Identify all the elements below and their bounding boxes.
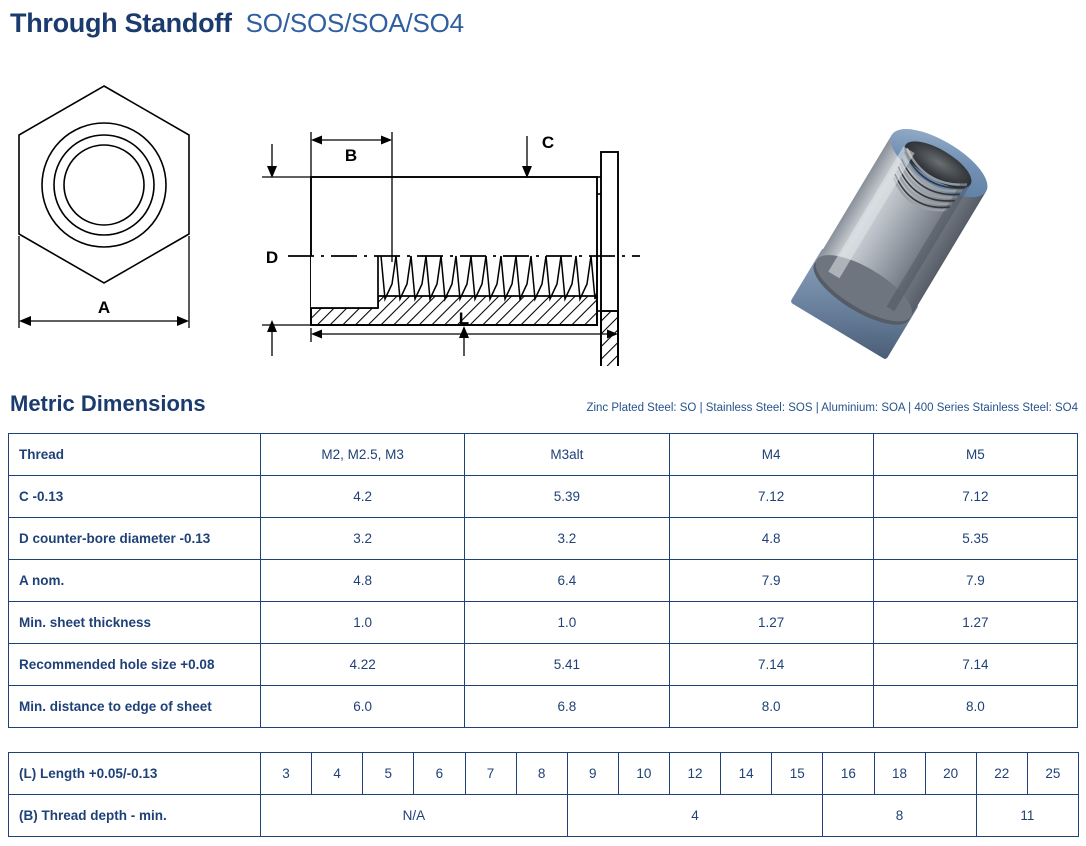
- length-cell: 22: [976, 753, 1027, 795]
- row-label: D counter-bore diameter -0.13: [9, 518, 261, 560]
- length-cell: 3: [261, 753, 312, 795]
- cell-value: 8.0: [669, 686, 873, 728]
- dimension-c: [522, 136, 532, 178]
- row-label: Min. distance to edge of sheet: [9, 686, 261, 728]
- drawings-panel: A: [0, 56, 1086, 366]
- cell-value: 7.9: [669, 560, 873, 602]
- length-cell: 8: [516, 753, 567, 795]
- table-row: Recommended hole size +0.08 4.22 5.41 7.…: [9, 644, 1078, 686]
- length-cell: 9: [567, 753, 618, 795]
- length-thread-depth-table: (L) Length +0.05/-0.13 34567891012141516…: [8, 752, 1079, 837]
- cell-value: 4.8: [261, 560, 465, 602]
- length-cell: 15: [772, 753, 823, 795]
- length-cell: 16: [823, 753, 874, 795]
- length-cell: 20: [925, 753, 976, 795]
- length-cell: 7: [465, 753, 516, 795]
- dimension-label-d: D: [266, 248, 278, 267]
- row-label: C -0.13: [9, 476, 261, 518]
- section-heading: Metric Dimensions: [10, 391, 206, 417]
- cell-value: 3.2: [261, 518, 465, 560]
- dimension-label-l: L: [459, 309, 469, 328]
- cell-value: 7.12: [669, 476, 873, 518]
- cell-value: 4.22: [261, 644, 465, 686]
- thread-depth-cell: 4: [567, 795, 823, 837]
- cell-value: 5.35: [873, 518, 1077, 560]
- cell-value: 6.8: [465, 686, 669, 728]
- cell-value: 7.9: [873, 560, 1077, 602]
- cell-value: 4.2: [261, 476, 465, 518]
- cell-value: 7.14: [873, 644, 1077, 686]
- cell-value: 7.14: [669, 644, 873, 686]
- table-header-row: Thread M2, M2.5, M3 M3alt M4 M5: [9, 434, 1078, 476]
- page-title: Through Standoff: [10, 8, 232, 39]
- row-label-length: (L) Length +0.05/-0.13: [9, 753, 261, 795]
- length-cell: 4: [312, 753, 363, 795]
- row-label: Recommended hole size +0.08: [9, 644, 261, 686]
- cell-value: 7.12: [873, 476, 1077, 518]
- metric-dimensions-table: Thread M2, M2.5, M3 M3alt M4 M5 C -0.13 …: [8, 433, 1078, 728]
- standoff-photo: [790, 115, 998, 360]
- row-label: Min. sheet thickness: [9, 602, 261, 644]
- column-header-thread: Thread: [9, 434, 261, 476]
- column-header-m2-m25-m3: M2, M2.5, M3: [261, 434, 465, 476]
- table-row: A nom. 4.8 6.4 7.9 7.9: [9, 560, 1078, 602]
- length-cell: 10: [618, 753, 669, 795]
- cell-value: 1.27: [669, 602, 873, 644]
- table-row: Min. sheet thickness 1.0 1.0 1.27 1.27: [9, 602, 1078, 644]
- cell-value: 6.0: [261, 686, 465, 728]
- technical-drawings-svg: A: [0, 56, 1086, 366]
- length-row: (L) Length +0.05/-0.13 34567891012141516…: [9, 753, 1079, 795]
- product-codes: SO/SOS/SOA/SO4: [246, 8, 464, 39]
- cell-value: 5.39: [465, 476, 669, 518]
- length-cell: 5: [363, 753, 414, 795]
- cell-value: 8.0: [873, 686, 1077, 728]
- thread-depth-cell: N/A: [261, 795, 568, 837]
- cell-value: 6.4: [465, 560, 669, 602]
- page-header: Through Standoff SO/SOS/SOA/SO4: [10, 8, 464, 39]
- dimension-l: [311, 326, 618, 366]
- table-row: C -0.13 4.2 5.39 7.12 7.12: [9, 476, 1078, 518]
- cell-value: 1.0: [261, 602, 465, 644]
- column-header-m5: M5: [873, 434, 1077, 476]
- table-row: D counter-bore diameter -0.13 3.2 3.2 4.…: [9, 518, 1078, 560]
- length-cell: 12: [670, 753, 721, 795]
- dimension-label-c: C: [542, 133, 554, 152]
- cell-value: 1.0: [465, 602, 669, 644]
- cell-value: 1.27: [873, 602, 1077, 644]
- row-label-thread-depth: (B) Thread depth - min.: [9, 795, 261, 837]
- dimension-label-b: B: [345, 146, 357, 165]
- length-cell: 25: [1027, 753, 1078, 795]
- dimension-label-a: A: [98, 298, 110, 317]
- thread-depth-cell: 11: [976, 795, 1078, 837]
- thread-depth-row: (B) Thread depth - min. N/A4811: [9, 795, 1079, 837]
- column-header-m4: M4: [669, 434, 873, 476]
- table-row: Min. distance to edge of sheet 6.0 6.8 8…: [9, 686, 1078, 728]
- thread-depth-cell: 8: [823, 795, 976, 837]
- column-header-m3alt: M3alt: [465, 434, 669, 476]
- materials-legend: Zinc Plated Steel: SO | Stainless Steel:…: [586, 402, 1078, 414]
- row-label: A nom.: [9, 560, 261, 602]
- cell-value: 4.8: [669, 518, 873, 560]
- length-cell: 18: [874, 753, 925, 795]
- length-cell: 6: [414, 753, 465, 795]
- cell-value: 3.2: [465, 518, 669, 560]
- cell-value: 5.41: [465, 644, 669, 686]
- hex-end-view: [19, 86, 189, 283]
- length-cell: 14: [721, 753, 772, 795]
